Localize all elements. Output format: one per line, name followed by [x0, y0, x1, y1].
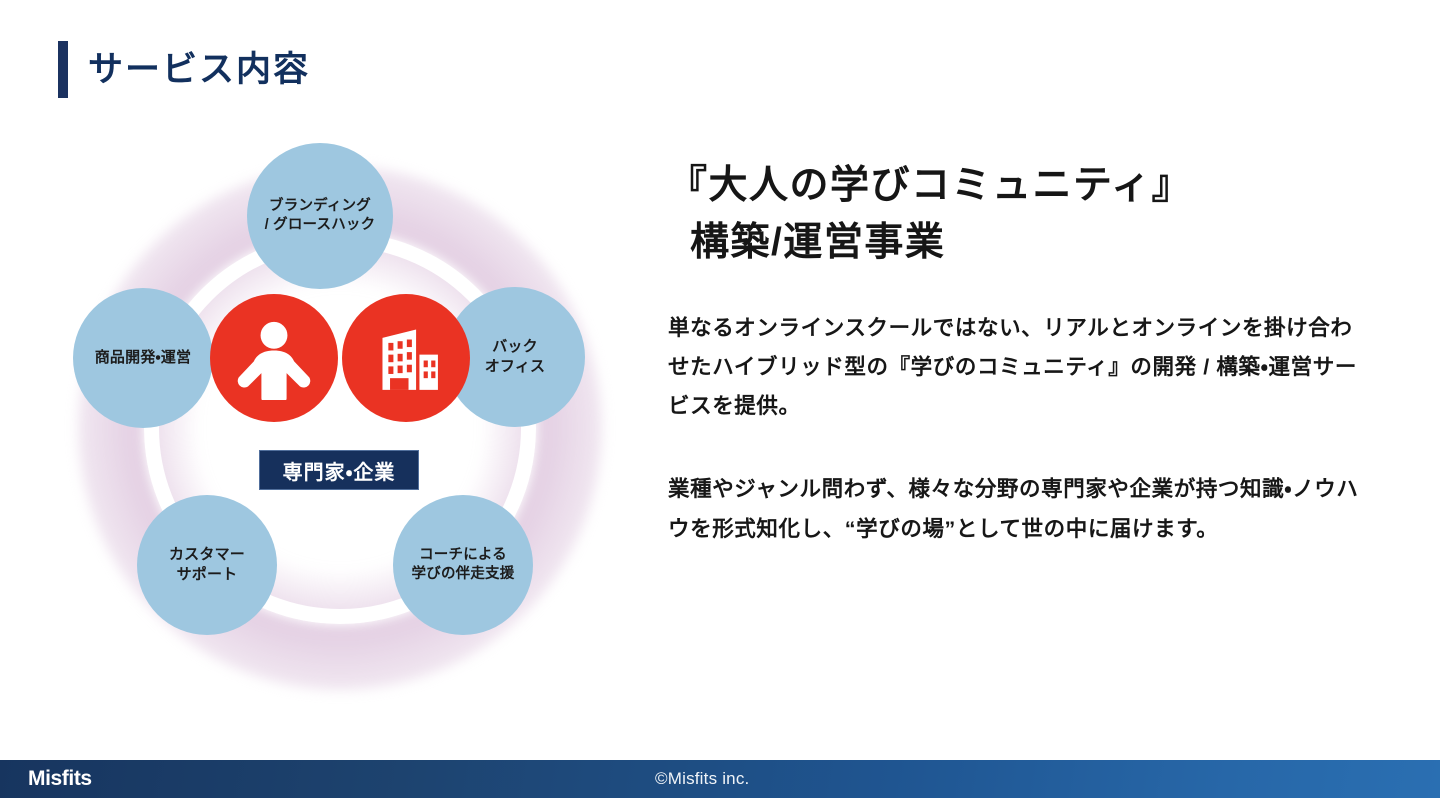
wheel-node-coaching-line2: 学びの伴走支援 [412, 565, 515, 584]
headline-line-2: 構築/運営事業 [668, 215, 1368, 272]
building-circle [342, 294, 470, 422]
headline-line-1: 『大人の学びコミュニティ』 [668, 164, 1192, 207]
body-paragraph-1: 単なるオンラインスクールではない、リアルとオンラインを掛け合わせたハイブリッド型… [668, 309, 1368, 426]
wheel-node-coaching[interactable]: コーチによる 学びの伴走支援 [393, 495, 533, 635]
wheel-node-customer-support-line2: サポート [169, 565, 245, 585]
wheel-node-branding-line1: ブランディング [265, 197, 376, 216]
title-accent-bar [58, 41, 68, 98]
copy-column: 『大人の学びコミュニティ』 構築/運営事業 単なるオンラインスクールではない、リ… [668, 158, 1368, 549]
footer-bar: Misfits ©Misfits inc. [0, 760, 1440, 798]
wheel-node-product-line1: 商品開発・運営 [95, 348, 192, 368]
wheel-node-backoffice-line1: バック [485, 337, 546, 357]
body-paragraph-2: 業種やジャンル問わず、様々な分野の専門家や企業が持つ知識・ノウハウを形式知化し、… [668, 470, 1368, 548]
wheel-node-customer-support[interactable]: カスタマー サポート [137, 495, 277, 635]
person-circle [210, 294, 338, 422]
wheel-node-coaching-line1: コーチによる [412, 546, 515, 565]
wheel-node-branding-line2: / グロースハック [265, 216, 376, 235]
headline: 『大人の学びコミュニティ』 構築/運営事業 [668, 158, 1368, 271]
footer-copyright: ©Misfits inc. [655, 769, 749, 789]
center-icon-group [210, 294, 470, 424]
service-wheel-diagram: ブランディング / グロースハック バック オフィス 商品開発・運営 カスタマー… [40, 128, 640, 668]
wheel-node-backoffice-line2: オフィス [485, 357, 546, 377]
page-title: サービス内容 [58, 41, 310, 98]
wheel-node-product[interactable]: 商品開発・運営 [73, 288, 213, 428]
wheel-node-branding[interactable]: ブランディング / グロースハック [247, 143, 393, 289]
building-icon [364, 316, 448, 400]
page-title-text: サービス内容 [88, 52, 310, 87]
misfits-logo: Misfits [28, 767, 92, 791]
center-label-badge: 専門家・企業 [259, 450, 419, 490]
slide-root: サービス内容 ブランディング / グロースハック バック オフィス 商品開発・運… [0, 0, 1440, 798]
person-icon [232, 316, 316, 400]
wheel-node-customer-support-line1: カスタマー [169, 545, 245, 565]
